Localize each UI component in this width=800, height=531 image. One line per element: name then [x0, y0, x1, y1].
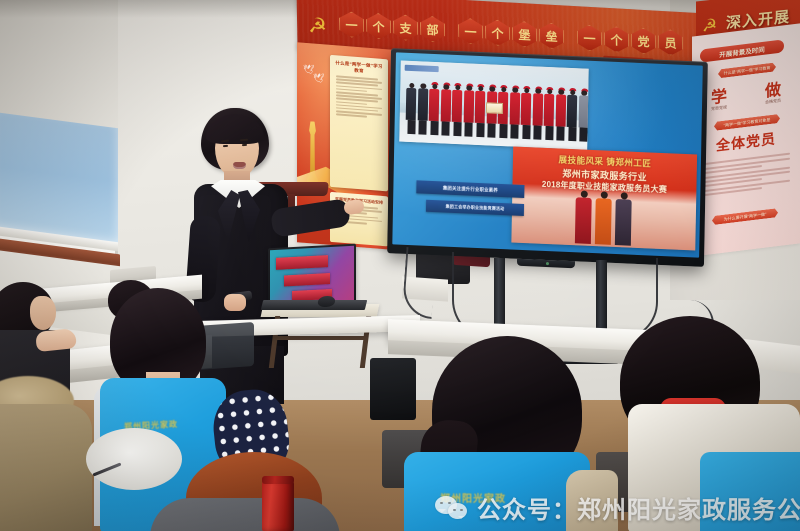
attendee-tan-coat — [0, 404, 92, 531]
screenshot-root: ☭ 一 个 支 部 一 个 堡 垒 一 个 党 员 一 面 旗 帜 党员先锋 模… — [0, 0, 800, 531]
poster-pink-small-2: 合格党员 — [765, 98, 781, 106]
thermos-cap — [262, 476, 294, 484]
banner-char: 个 — [485, 19, 510, 46]
banner-char: 部 — [420, 15, 445, 42]
banner-spacer — [447, 17, 456, 44]
banner-char: 支 — [393, 14, 418, 41]
dove-icon: 🕊🕊 — [303, 65, 324, 83]
poster-pink-body — [702, 151, 790, 199]
wechat-icon — [435, 494, 469, 522]
banner-char: 个 — [604, 26, 629, 53]
poster-pink-header: 开展背景及时间 — [700, 39, 784, 62]
certificate-prop — [486, 102, 503, 114]
monitor-on-desk — [370, 358, 416, 420]
hammer-sickle-icon: ☭ — [308, 15, 334, 38]
poster-pink-small-1: 党章党规 — [711, 104, 727, 112]
poster-pink-tag-3: 为什么要开展“两学一做” — [712, 208, 778, 225]
party-poster-right-pink: 开展背景及时间 什么是“两学一做”学习教育 学 做 党章党规 合格党员 “两学一… — [692, 23, 800, 256]
banner-char: 堡 — [512, 21, 537, 48]
presenter-hand-left — [224, 294, 246, 311]
tv-bezel: 展技能风采 铸郑州工匠 郑州市家政服务行业 2018年度职业技能家政服务员大赛 … — [387, 48, 708, 267]
presenter-mouth — [233, 162, 246, 169]
poster-heading: 什么是“两学一做”学习教育 — [334, 60, 384, 76]
watermark-text: 公众号：郑州阳光家政服务公司 — [477, 490, 800, 525]
watermark: 公众号：郑州阳光家政服务公司 — [435, 490, 800, 525]
laptop-table-rail — [276, 336, 369, 340]
slide-photo-award: 展技能风采 铸郑州工匠 郑州市家政服务行业 2018年度职业技能家政服务员大赛 — [511, 146, 697, 250]
banner-spacer — [566, 24, 575, 51]
attendee-left-male-face — [30, 296, 56, 330]
banner-char: 个 — [366, 12, 391, 39]
wall-television[interactable]: 展技能风采 铸郑州工匠 郑州市家政服务行业 2018年度职业技能家政服务员大赛 … — [387, 48, 708, 267]
laptop-screen-content — [270, 246, 354, 308]
tv-power-led — [545, 262, 548, 265]
banner-char: 员 — [658, 29, 683, 56]
slide-photo-group — [399, 61, 588, 150]
banner-char: 垒 — [539, 22, 564, 49]
banner-char: 一 — [458, 18, 483, 45]
poster-pink-tag-1: 什么是“两学一做”学习教育 — [718, 62, 776, 78]
attendee-white-scarf — [86, 428, 182, 490]
laptop-keyboard-base[interactable] — [261, 300, 367, 310]
window-blind — [0, 112, 118, 249]
banner-char: 一 — [577, 24, 602, 51]
tv-screen: 展技能风采 铸郑州工匠 郑州市家政服务行业 2018年度职业技能家政服务员大赛 … — [392, 52, 702, 257]
award-people — [575, 190, 633, 245]
banner-char: 一 — [339, 11, 364, 38]
banner-char: 党 — [631, 27, 656, 54]
red-thermos-bottle — [262, 480, 294, 531]
attendee-front-shoulders — [150, 498, 340, 531]
